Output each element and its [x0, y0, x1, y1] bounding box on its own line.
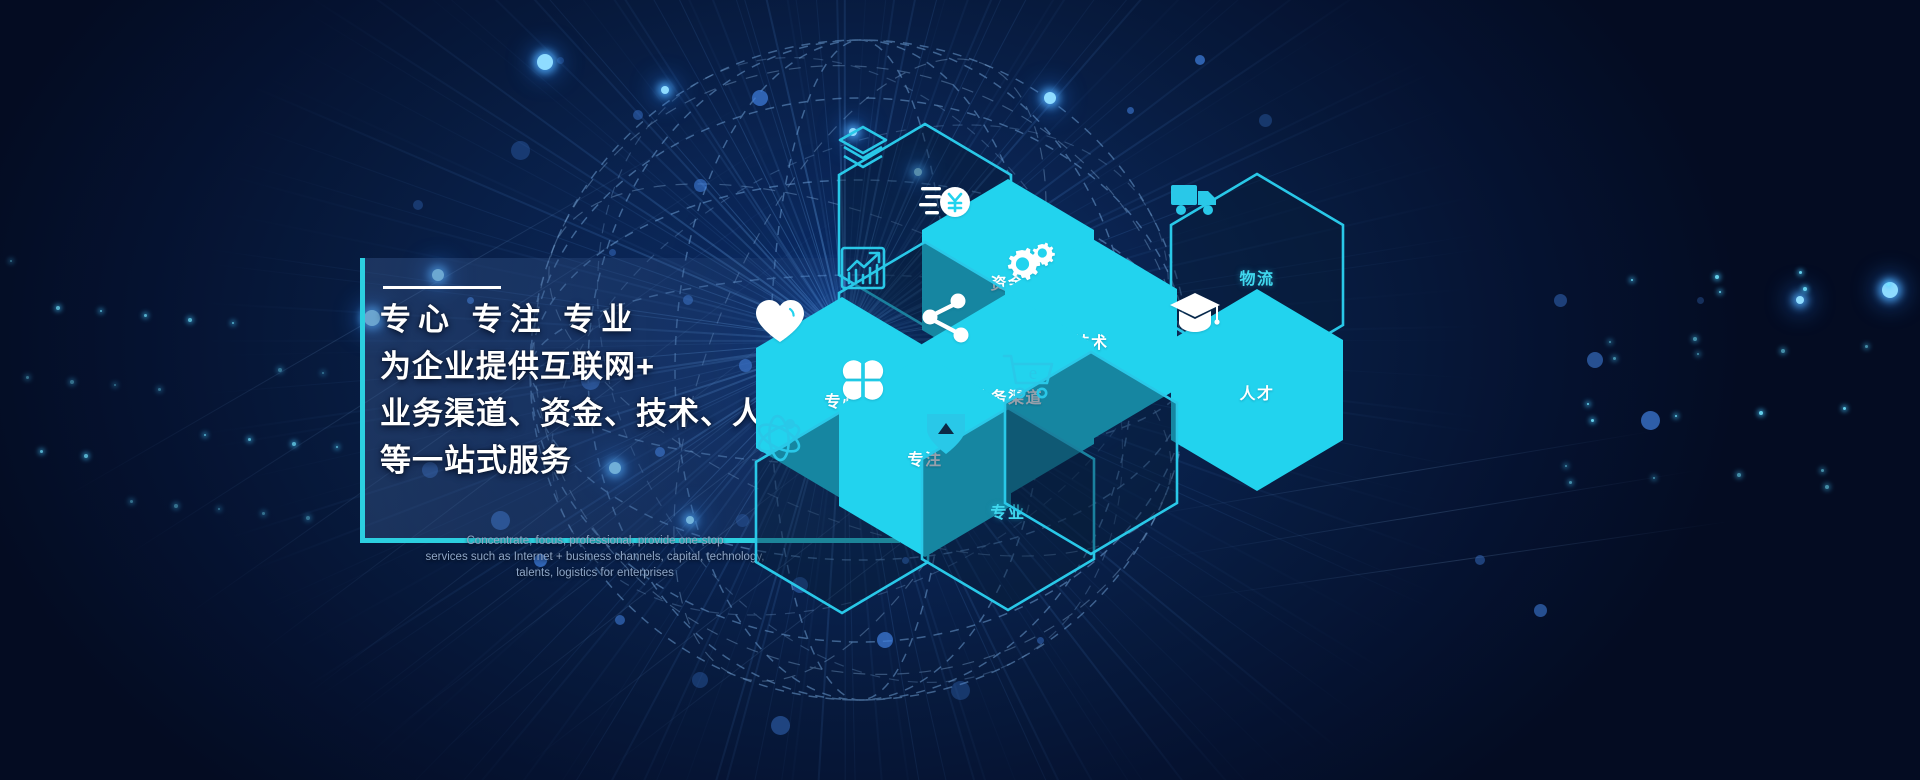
svg-text:e: e: [1029, 363, 1037, 384]
hexagon-label: 人才: [1239, 387, 1274, 403]
hexagon-ecommerce[interactable]: e: [1002, 350, 1180, 556]
hexagon-label: 物流: [1239, 272, 1274, 288]
hexagon-grid: 资金物流技术专心业务渠道人才专注专业e: [0, 0, 1920, 780]
hexagon-rencai[interactable]: 人才: [1168, 287, 1346, 493]
hero-banner: 专心 专注 专业 为企业提供互联网+ 业务渠道、资金、技术、人才、物流 等一站式…: [0, 0, 1920, 780]
